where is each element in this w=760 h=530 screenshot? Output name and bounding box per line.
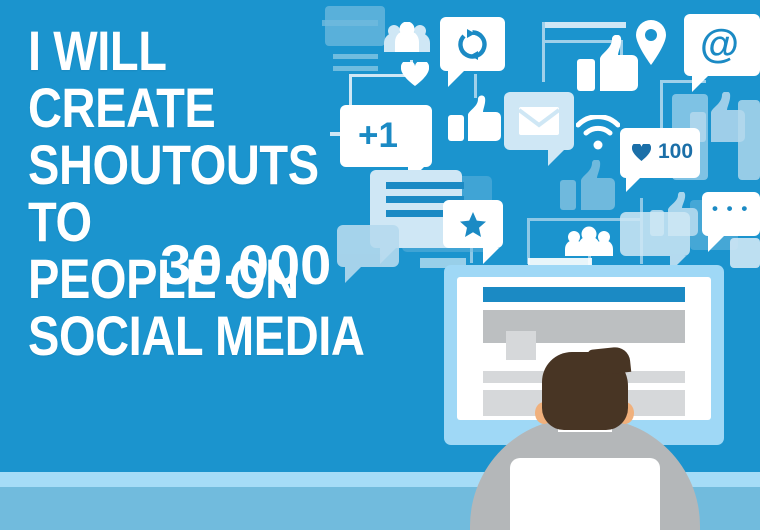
screen-header-bar <box>483 287 685 302</box>
person-shirt <box>510 458 660 530</box>
envelope-icon <box>519 107 559 135</box>
thumbs-up-icon <box>577 35 639 91</box>
group-people-icon <box>565 226 613 256</box>
ellipsis-label: • • • <box>712 199 749 219</box>
headline-line-6: SOCIAL MEDIA <box>28 307 364 364</box>
background-card <box>730 238 760 268</box>
banner-canvas: +1 <box>0 0 760 530</box>
connector-line <box>542 22 626 28</box>
background-bubble <box>620 212 690 256</box>
star-icon <box>460 212 486 237</box>
heart-count-bubble: 100 <box>620 128 700 178</box>
heart-count-label: 100 <box>658 140 693 164</box>
at-bubble: @ <box>684 14 760 76</box>
location-pin-icon <box>636 20 666 65</box>
headline-line-1: I WILL <box>28 22 167 79</box>
heart-icon <box>632 144 651 161</box>
connector-line <box>542 22 545 82</box>
wifi-icon <box>576 115 620 151</box>
at-label: @ <box>700 22 739 66</box>
headline-block: I WILL CREATE SHOUTOUTS TO PEOPLE ON SOC… <box>28 22 428 364</box>
headline-line-4: TO <box>28 193 92 250</box>
refresh-icon <box>457 29 488 60</box>
refresh-bubble <box>440 17 505 71</box>
headline-line-3: SHOUTOUTS <box>28 136 319 193</box>
headline-line-2: CREATE <box>28 79 215 136</box>
person-at-desk <box>470 340 700 530</box>
ellipsis-bubble: • • • <box>702 192 760 236</box>
thumbs-up-icon <box>448 95 502 141</box>
thumbs-up-icon <box>560 160 616 210</box>
audience-count: 30.000 <box>160 236 331 293</box>
envelope-bubble <box>504 92 574 150</box>
star-bubble <box>443 200 503 248</box>
